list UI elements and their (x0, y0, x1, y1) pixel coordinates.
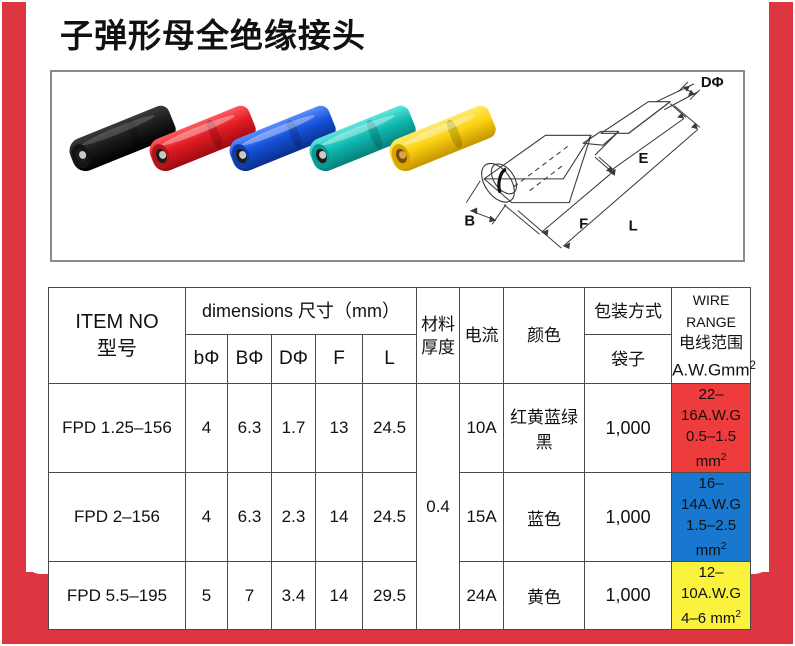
table-header-row-1: ITEM NO 型号 dimensions 尺寸（mm） 材料 厚度 电流 颜色… (49, 288, 751, 335)
cell-material-thickness: 0.4 (417, 384, 460, 630)
drawing-label-l: L (629, 218, 638, 234)
cell-color: 黄色 (504, 562, 585, 630)
specification-table: ITEM NO 型号 dimensions 尺寸（mm） 材料 厚度 电流 颜色… (48, 287, 751, 630)
cell-b-phi-upper: 7 (228, 562, 272, 630)
header-item-no-cn: 型号 (49, 336, 185, 363)
header-dimensions: dimensions 尺寸（mm） (186, 288, 417, 335)
technical-drawing: DΦ E B F L (443, 72, 743, 260)
frame-accent-right (769, 2, 793, 644)
drawing-label-d-phi: DΦ (701, 75, 724, 91)
header-b-phi-upper: BΦ (228, 335, 272, 384)
cell-model: FPD 1.25–156 (49, 384, 186, 473)
cell-color: 蓝色 (504, 473, 585, 562)
cell-b-phi-lower: 4 (186, 384, 228, 473)
drawing-label-f: F (579, 216, 588, 232)
header-wire-range-en: WIRE RANGE (672, 289, 750, 333)
cell-f: 14 (316, 473, 363, 562)
cell-wire-range: 22–16A.W.G 0.5–1.5 mm2 (672, 384, 751, 473)
cell-b-phi-lower: 4 (186, 473, 228, 562)
header-wire-range-cn: 电线范围 (672, 333, 750, 355)
cell-packing: 1,000 (585, 562, 672, 630)
cell-current: 15A (460, 473, 504, 562)
cell-wire-mm: 0.5–1.5 mm2 (672, 426, 750, 472)
header-item-no-en: ITEM NO (49, 309, 185, 336)
product-spec-page: 子弹形母全绝缘接头 (0, 0, 795, 646)
header-color: 颜色 (504, 288, 585, 384)
header-f: F (316, 335, 363, 384)
cell-wire-range: 12–10A.W.G 4–6 mm2 (672, 562, 751, 630)
cell-d-phi: 2.3 (272, 473, 316, 562)
cell-wire-awg: 22–16A.W.G (672, 384, 750, 426)
header-material-line1: 材料 (417, 313, 459, 336)
product-photo (52, 72, 472, 260)
cell-b-phi-upper: 6.3 (228, 384, 272, 473)
header-item-no: ITEM NO 型号 (49, 288, 186, 384)
header-current: 电流 (460, 288, 504, 384)
cell-model: FPD 2–156 (49, 473, 186, 562)
drawing-label-b: B (464, 213, 475, 229)
cell-b-phi-lower: 5 (186, 562, 228, 630)
cell-l: 24.5 (363, 384, 417, 473)
cell-current: 24A (460, 562, 504, 630)
cell-l: 24.5 (363, 473, 417, 562)
cell-b-phi-upper: 6.3 (228, 473, 272, 562)
product-image-panel: DΦ E B F L (50, 70, 745, 262)
cell-color: 红黄蓝绿黑 (504, 384, 585, 473)
page-title: 子弹形母全绝缘接头 (60, 14, 366, 58)
header-wire-range-unit: A.W.Gmm2 (672, 355, 750, 382)
cell-model: FPD 5.5–195 (49, 562, 186, 630)
cell-wire-mm: 4–6 mm2 (672, 604, 750, 629)
table-row: FPD 5.5–195 5 7 3.4 14 29.5 24A 黄色 1,000… (49, 562, 751, 630)
cell-f: 13 (316, 384, 363, 473)
cell-wire-range: 16–14A.W.G 1.5–2.5 mm2 (672, 473, 751, 562)
cell-packing: 1,000 (585, 384, 672, 473)
header-d-phi: DΦ (272, 335, 316, 384)
cell-packing: 1,000 (585, 473, 672, 562)
cell-d-phi: 3.4 (272, 562, 316, 630)
table-row: FPD 2–156 4 6.3 2.3 14 24.5 15A 蓝色 1,000… (49, 473, 751, 562)
cell-current: 10A (460, 384, 504, 473)
cell-wire-awg: 12–10A.W.G (672, 562, 750, 604)
cell-f: 14 (316, 562, 363, 630)
header-wire-range: WIRE RANGE 电线范围 A.W.Gmm2 (672, 288, 751, 384)
drawing-label-e: E (639, 151, 649, 167)
header-packing-method: 包装方式 (585, 288, 672, 335)
cell-wire-mm: 1.5–2.5 mm2 (672, 515, 750, 561)
header-b-phi-lower: bΦ (186, 335, 228, 384)
cell-wire-awg: 16–14A.W.G (672, 473, 750, 515)
header-material-thickness: 材料 厚度 (417, 288, 460, 384)
cell-d-phi: 1.7 (272, 384, 316, 473)
table-row: FPD 1.25–156 4 6.3 1.7 13 24.5 0.4 10A 红… (49, 384, 751, 473)
frame-accent-left (2, 2, 26, 644)
cell-l: 29.5 (363, 562, 417, 630)
header-material-line2: 厚度 (417, 336, 459, 359)
header-l: L (363, 335, 417, 384)
header-packing-bag: 袋子 (585, 335, 672, 384)
